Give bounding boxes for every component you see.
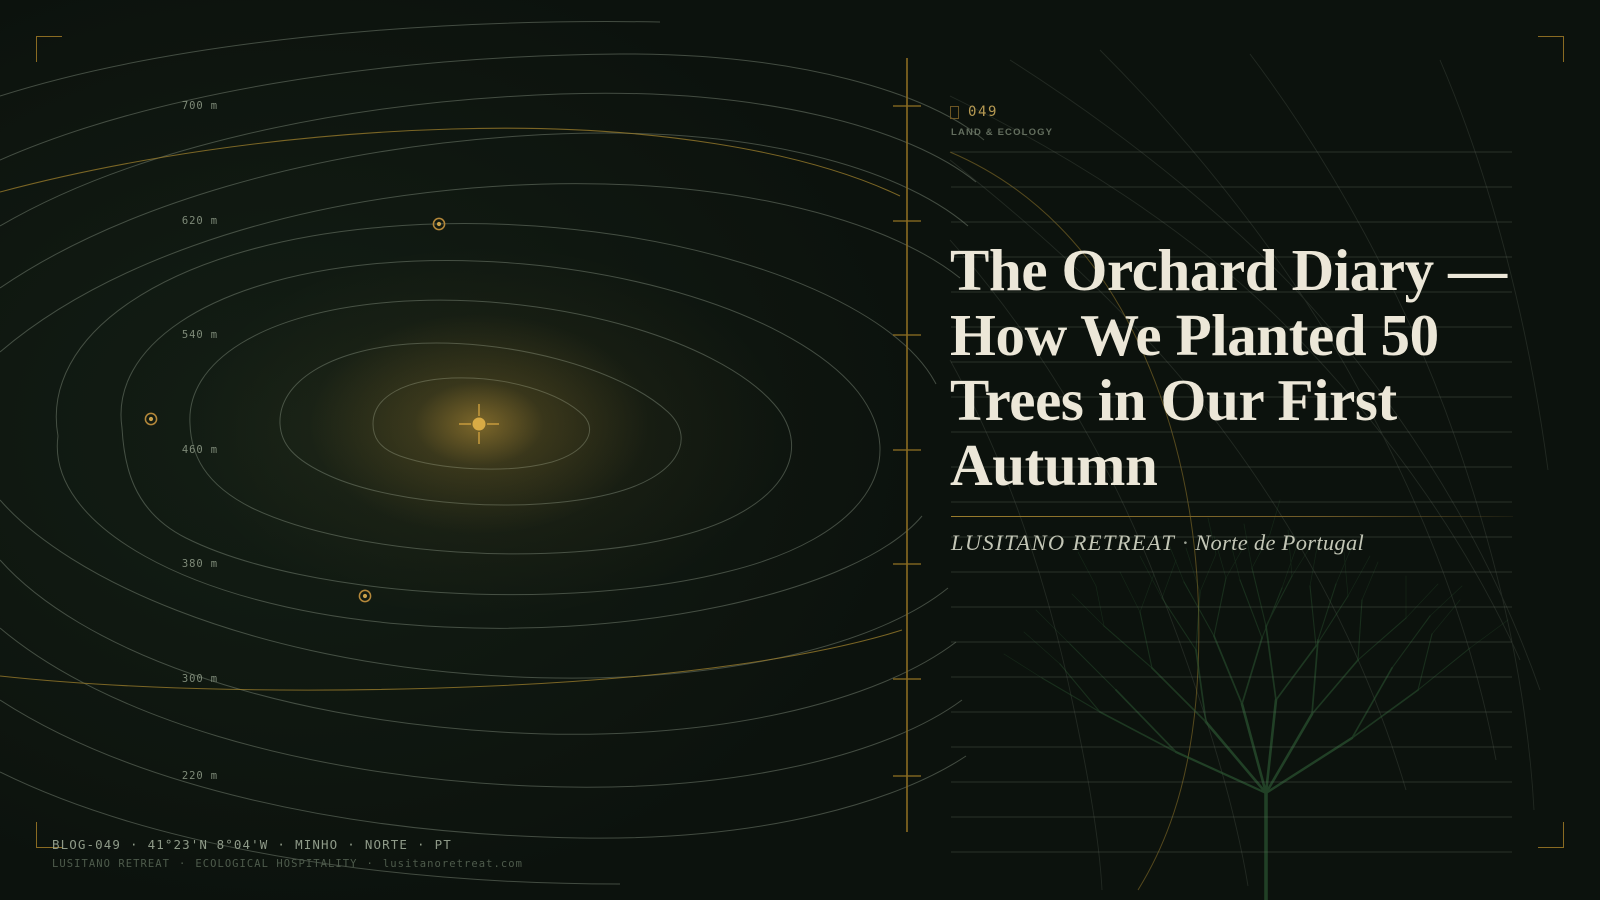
- footer-sep-3: ·: [338, 837, 365, 852]
- footer-primary-line: BLOG-049·41°23'N 8°04'W·MINHO·NORTE·PT: [52, 837, 523, 852]
- elevation-axis: 700 m 620 m 540 m 460 m 380 m 300 m 220 …: [0, 0, 930, 900]
- footer-district: MINHO: [295, 837, 338, 852]
- issue-number: 049: [968, 104, 998, 120]
- footer-country: PT: [435, 837, 452, 852]
- axis-tick-label-700: 700 m: [182, 100, 218, 112]
- footer-secondary-line: LUSITANO RETREAT·ECOLOGICAL HOSPITALITY·…: [52, 858, 523, 870]
- subtitle-brand: LUSITANO RETREAT: [951, 530, 1175, 555]
- footer-sep-2: ·: [268, 837, 295, 852]
- footer-tagline: ECOLOGICAL HOSPITALITY: [195, 858, 357, 870]
- footer-brand: LUSITANO RETREAT: [52, 858, 170, 870]
- subtitle: LUSITANO RETREAT·Norte de Portugal: [951, 530, 1364, 556]
- axis-tick-label-300: 300 m: [182, 673, 218, 685]
- kicker: 049: [950, 104, 998, 120]
- footer-website[interactable]: lusitanoretreat.com: [383, 858, 523, 870]
- axis-tick-label-620: 620 m: [182, 215, 218, 227]
- footer-blog-id: BLOG-049: [52, 837, 121, 852]
- footer-region: NORTE: [365, 837, 408, 852]
- axis-tick-label-220: 220 m: [182, 770, 218, 782]
- footer-sep-4: ·: [408, 837, 435, 852]
- subtitle-separator: ·: [1175, 530, 1195, 555]
- footer-sep-6: ·: [358, 858, 383, 870]
- subtitle-region: Norte de Portugal: [1195, 530, 1364, 555]
- section-tag: LAND & ECOLOGY: [951, 127, 1053, 138]
- footer-coordinates: 41°23'N 8°04'W: [148, 837, 269, 852]
- axis-tick-label-540: 540 m: [182, 329, 218, 341]
- editorial-panel: 049 LAND & ECOLOGY The Orchard Diary — H…: [950, 0, 1560, 900]
- axis-tick-label-380: 380 m: [182, 558, 218, 570]
- divider-rule: [951, 516, 1513, 517]
- poster-canvas: 700 m 620 m 540 m 460 m 380 m 300 m 220 …: [0, 0, 1600, 900]
- axis-tick-label-460: 460 m: [182, 444, 218, 456]
- page-title: The Orchard Diary — How We Planted 50 Tr…: [950, 238, 1550, 498]
- footer-sep-1: ·: [121, 837, 148, 852]
- issue-glyph-icon: [950, 106, 959, 119]
- footer: BLOG-049·41°23'N 8°04'W·MINHO·NORTE·PT L…: [52, 837, 523, 870]
- footer-sep-5: ·: [170, 858, 195, 870]
